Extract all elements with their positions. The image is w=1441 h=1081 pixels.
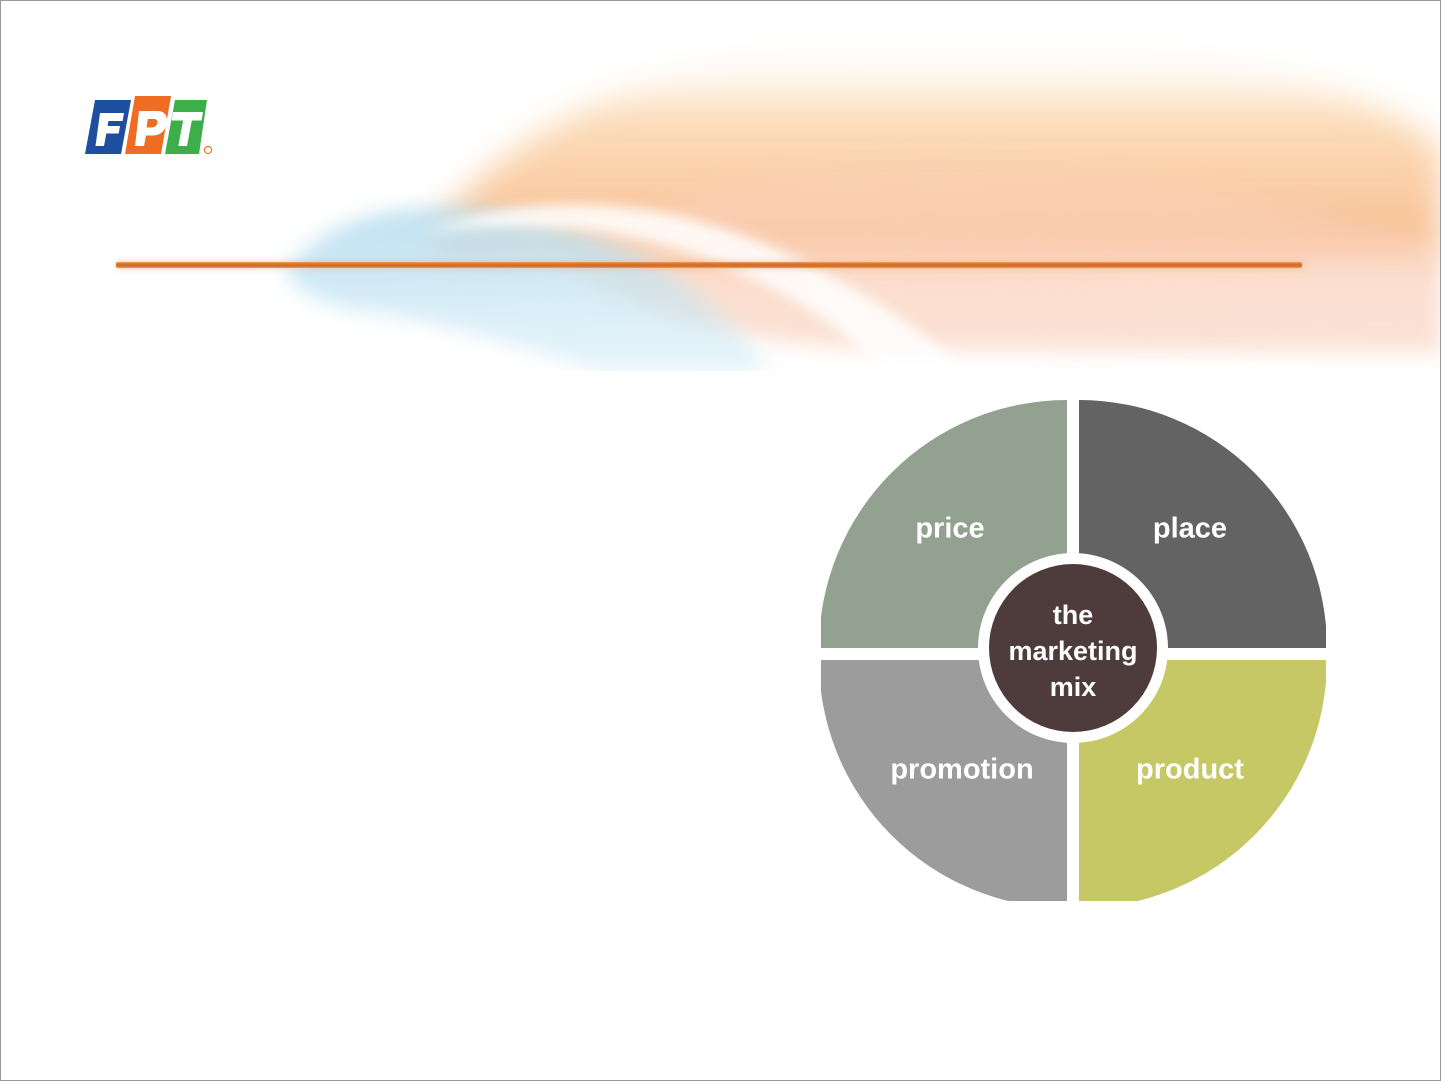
white-highlight-shape <box>421 204 961 371</box>
header-decoration <box>1 1 1441 371</box>
peach-swoosh-shape <box>561 166 1441 353</box>
header-swoosh-graphic <box>1 1 1441 371</box>
hub-label-line-2: marketing <box>1008 636 1137 666</box>
fpt-logo <box>81 96 213 158</box>
hub-label-line-1: the <box>1053 600 1094 630</box>
segment-label-promotion: promotion <box>890 754 1033 786</box>
blue-wave-shape <box>284 208 771 371</box>
segment-label-product: product <box>1136 754 1244 786</box>
segment-label-price: price <box>915 513 984 545</box>
orange-cloud-shape <box>431 40 1441 256</box>
registered-mark-icon <box>204 146 211 153</box>
marketing-mix-diagram: price place product promotion the market… <box>821 396 1326 901</box>
fpt-logo-icon <box>81 96 213 158</box>
slide-canvas: price place product promotion the market… <box>0 0 1441 1081</box>
segment-label-place: place <box>1153 513 1227 545</box>
marketing-mix-svg: price place product promotion the market… <box>821 396 1326 901</box>
accent-rule <box>116 262 1302 268</box>
hub-label-line-3: mix <box>1050 672 1097 702</box>
